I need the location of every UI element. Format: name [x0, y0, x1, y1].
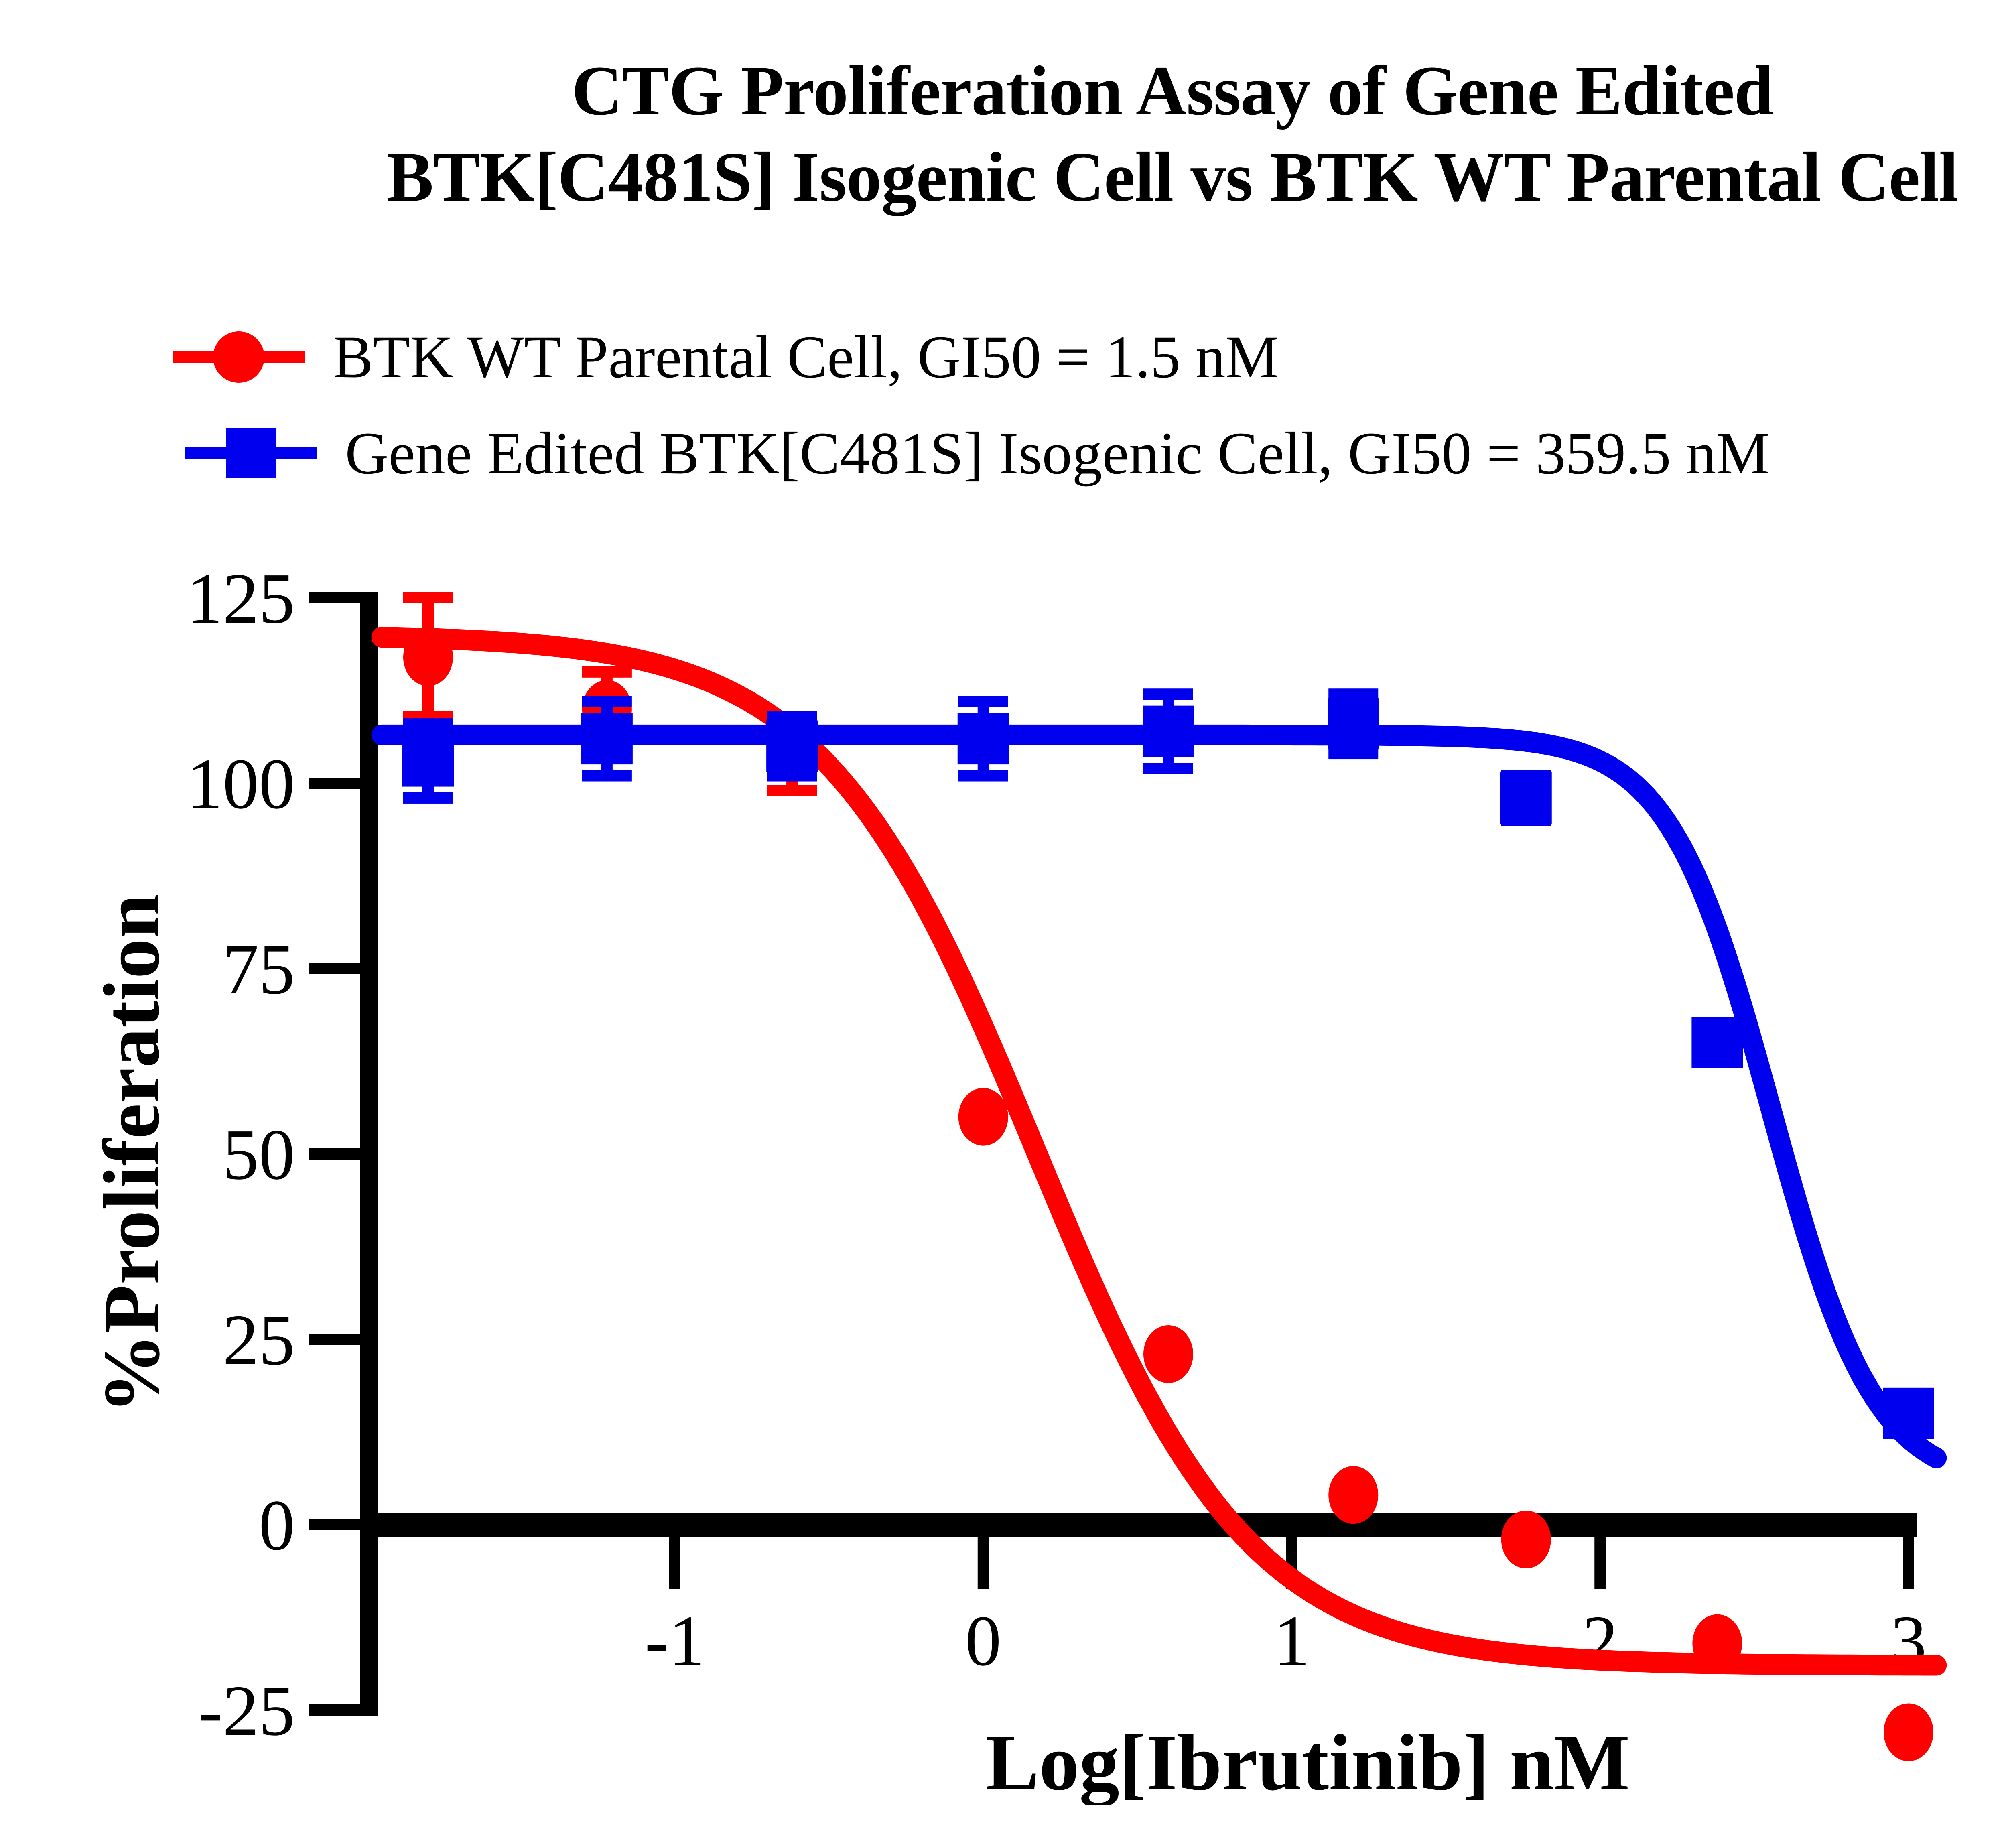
y-tick-label: 125: [187, 558, 295, 638]
data-point-square[interactable]: [1143, 706, 1194, 757]
y-tick-label: 100: [187, 744, 295, 824]
y-tick: [309, 778, 361, 789]
error-bar-cap: [403, 718, 453, 729]
chart-title-line1: CTG Proliferation Assay of Gene Edited: [0, 48, 2006, 134]
legend-item-wt[interactable]: BTK WT Parental Cell, GI50 = 1.5 nM: [173, 309, 2006, 405]
y-axis-title: %Proliferation: [87, 894, 176, 1414]
y-tick: [309, 592, 361, 603]
x-axis-line: [360, 1513, 1917, 1537]
y-axis-line: [360, 592, 378, 1716]
y-tick-label: 50: [223, 1115, 295, 1194]
error-bar-cap: [958, 770, 1008, 782]
y-tick-label: 0: [259, 1485, 295, 1565]
legend-item-isogenic[interactable]: Gene Edited BTK[C481S] Isogenic Cell, GI…: [173, 405, 2006, 502]
data-point-square[interactable]: [1691, 1017, 1743, 1068]
square-marker-icon: [226, 428, 276, 478]
chart-figure: CTG Proliferation Assay of Gene Edited B…: [0, 0, 2006, 1848]
data-point-circle[interactable]: [1692, 1614, 1742, 1672]
chart-title-line2: BTK[C481S] Isogenic Cell vs BTK WT Paren…: [0, 134, 2006, 221]
x-tick-label: -1: [645, 1601, 705, 1681]
x-tick-label: 1: [1274, 1601, 1310, 1681]
error-bar-cap: [767, 785, 817, 796]
legend-label-wt: BTK WT Parental Cell, GI50 = 1.5 nM: [305, 323, 1279, 392]
legend-key-isogenic: [185, 429, 317, 477]
y-tick-label: 75: [223, 929, 295, 1009]
data-point-square[interactable]: [581, 713, 633, 764]
chart-legend: BTK WT Parental Cell, GI50 = 1.5 nM Gene…: [173, 309, 2006, 502]
data-point-circle[interactable]: [958, 1088, 1008, 1146]
x-tick-label: 0: [965, 1601, 1001, 1681]
data-point-circle[interactable]: [403, 628, 453, 686]
x-tick: [978, 1537, 989, 1589]
error-bar-cap: [582, 696, 632, 707]
data-point-square[interactable]: [766, 721, 818, 772]
error-bar-cap: [582, 666, 632, 678]
x-tick: [1594, 1537, 1606, 1589]
data-point-square[interactable]: [1883, 1388, 1934, 1439]
x-axis-title: Log[Ibrutinib] nM: [986, 1718, 1630, 1805]
y-tick: [309, 963, 361, 974]
y-tick: [309, 1704, 361, 1716]
error-bar-cap: [767, 711, 817, 722]
legend-label-isogenic: Gene Edited BTK[C481S] Isogenic Cell, GI…: [317, 419, 1770, 488]
data-point-square[interactable]: [402, 735, 454, 787]
error-bar-cap: [403, 592, 453, 603]
chart-title: CTG Proliferation Assay of Gene Edited B…: [0, 48, 2006, 220]
chart-canvas: 1251007550250-25-10123Log[Ibrutinib] nM%…: [0, 554, 2006, 1805]
legend-key-wt: [173, 333, 305, 381]
error-bar-cap: [1328, 748, 1378, 759]
error-bar-cap: [582, 770, 632, 782]
data-point-square[interactable]: [1500, 772, 1552, 824]
data-point-square[interactable]: [958, 713, 1009, 764]
y-tick: [309, 1148, 361, 1160]
error-bar-cap: [958, 696, 1008, 707]
error-bar-cap: [403, 792, 453, 804]
y-tick-label: -25: [199, 1671, 295, 1751]
data-point-square[interactable]: [1328, 698, 1379, 749]
data-point-circle[interactable]: [1328, 1466, 1378, 1524]
error-bar-cap: [1143, 688, 1193, 700]
error-bar-cap: [1143, 763, 1193, 774]
x-tick: [669, 1537, 680, 1589]
y-tick: [309, 1519, 361, 1530]
y-tick-label: 25: [223, 1300, 295, 1380]
data-point-circle[interactable]: [1143, 1325, 1193, 1383]
x-tick: [1903, 1537, 1914, 1589]
data-point-circle[interactable]: [1884, 1703, 1933, 1761]
error-bar-cap: [767, 770, 817, 782]
data-point-circle[interactable]: [1501, 1511, 1551, 1568]
error-bar-cap: [1328, 688, 1378, 700]
y-tick: [309, 1334, 361, 1345]
fit-curve: [382, 637, 1937, 1665]
plot-area: 1251007550250-25-10123Log[Ibrutinib] nM%…: [0, 554, 2006, 1797]
circle-marker-icon: [213, 331, 264, 383]
